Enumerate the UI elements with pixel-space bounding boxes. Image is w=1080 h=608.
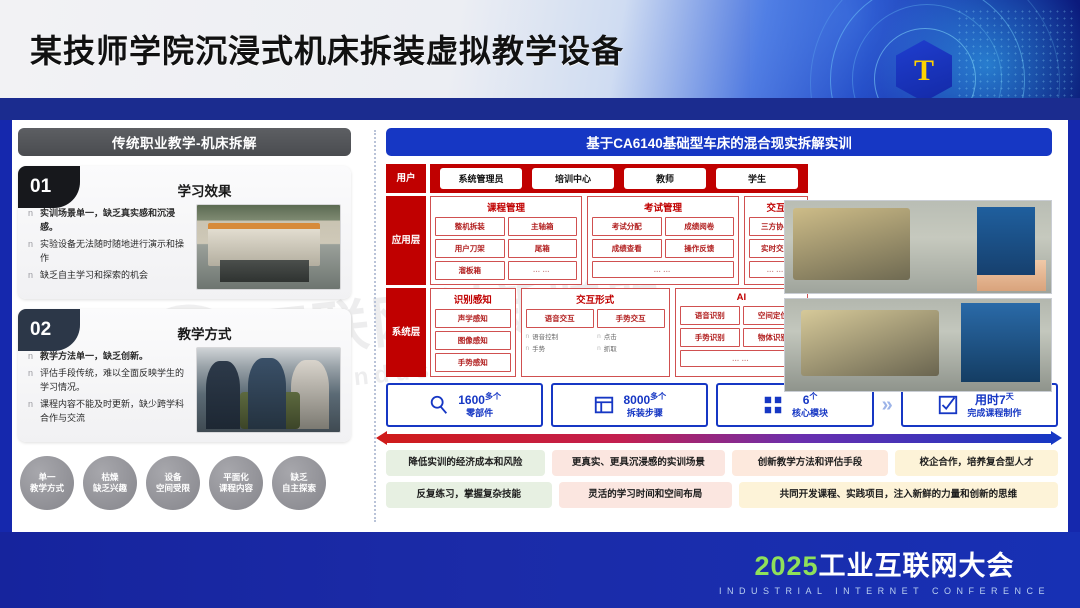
list-item: n 评估手段传统，难以全面反映学生的学习情况。 [28, 366, 188, 394]
pain-point-circle: 缺乏 自主探索 [272, 456, 326, 510]
architecture-diagram: 用户 系统管理员 培训中心 教师 学生 应用层 课程管理 整机拆装 主轴箱 [386, 164, 1052, 377]
chip-item[interactable]: 溜板箱 [435, 261, 505, 280]
user-role-training-center[interactable]: 培训中心 [532, 168, 614, 189]
gradient-arrow-bar [386, 434, 1052, 443]
bullet-marker-icon: n [28, 237, 35, 265]
bullet-text: 教学方法单一，缺乏创新。 [40, 349, 148, 363]
circle-line-1: 缺乏 [290, 472, 307, 483]
subitem-text: 手势 [532, 343, 545, 353]
card-heading: 学习效果 [68, 174, 341, 204]
benefit-item: 共同开发课程、实践项目，注入新鲜的力量和创新的思维 [739, 482, 1058, 508]
card-bullet-list: n 教学方法单一，缺乏创新。 n 评估手段传统，难以全面反映学生的学习情况。 n… [28, 347, 188, 433]
circle-line-1: 单一 [38, 472, 55, 483]
pain-point-circle: 单一 教学方式 [20, 456, 74, 510]
chip-more[interactable]: …… [508, 261, 578, 280]
user-role-admin[interactable]: 系统管理员 [440, 168, 522, 189]
subitem: n点击 [597, 331, 665, 341]
chip-item[interactable]: 主轴箱 [508, 217, 578, 236]
stat-value: 8000 [623, 393, 650, 407]
bullet-marker-icon: n [28, 268, 35, 282]
problem-card-01: 01 学习效果 n 实训场景单一，缺乏真实感和沉浸感。 n 实验设备无法随时随地… [18, 166, 351, 299]
list-item: n 缺乏自主学习和探索的机会 [28, 268, 188, 282]
benefit-item: 降低实训的经济成本和风险 [386, 450, 545, 476]
list-item: n 实验设备无法随时随地进行演示和操作 [28, 237, 188, 265]
group-exam-management: 考试管理 考试分配 成绩阅卷 成绩查看 操作反馈 …… [587, 196, 739, 285]
benefit-item: 反复练习，掌握复杂技能 [386, 482, 552, 508]
subitem: n语音控制 [526, 331, 594, 341]
benefits-row-2: 反复练习，掌握复杂技能 灵活的学习时间和空间布局 共同开发课程、实践项目，注入新… [386, 482, 1058, 508]
list-item: n 教学方法单一，缺乏创新。 [28, 349, 188, 363]
chip-item[interactable]: 考试分配 [592, 217, 662, 236]
right-panel-title: 基于CA6140基础型车床的混合现实拆解实训 [386, 128, 1052, 156]
panel-divider [374, 130, 376, 522]
group-title: 考试管理 [592, 200, 734, 214]
circle-line-1: 设备 [164, 472, 181, 483]
header-divider-bar [0, 98, 1080, 120]
decorative-dot-matrix [956, 8, 1076, 98]
stat-unit: 多个 [650, 392, 666, 401]
group-interaction-form: 交互形式 语音交互 手势交互 n语音控制 n点击 n手势 n抓取 [521, 288, 670, 377]
circle-line-2: 课程内容 [219, 483, 253, 494]
subitem-text: 语音控制 [532, 331, 558, 341]
chip-more[interactable]: …… [592, 261, 734, 278]
user-role-bar: 系统管理员 培训中心 教师 学生 [430, 164, 808, 193]
group-title: 课程管理 [435, 200, 577, 214]
left-panel: 传统职业教学-机床拆解 01 学习效果 n 实训场景单一，缺乏真实感和沉浸感。 … [18, 128, 363, 528]
pain-point-circle: 平面化 课程内容 [209, 456, 263, 510]
subitem: n抓取 [597, 343, 665, 353]
subitem-text: 抓取 [604, 343, 617, 353]
slide-header: T 某技师学院沉浸式机床拆装虚拟教学设备 [0, 0, 1080, 98]
chip-item[interactable]: 图像感知 [435, 331, 511, 350]
subitem-marker-icon: n [526, 345, 530, 352]
bullet-text: 课程内容不能及时更新，缺少跨学科合作与交流 [40, 397, 188, 425]
chip-item[interactable]: 成绩阅卷 [665, 217, 735, 236]
list-icon [593, 394, 615, 416]
bullet-marker-icon: n [28, 366, 35, 394]
subitem-marker-icon: n [526, 333, 530, 340]
card-heading: 教学方式 [68, 317, 341, 347]
stat-unit: 多个 [485, 392, 501, 401]
stat-steps: 8000多个 拆装步骤 [551, 383, 708, 427]
problem-card-02: 02 教学方式 n 教学方法单一，缺乏创新。 n 评估手段传统，难以全面反映学生… [18, 309, 351, 442]
checkbox-icon [937, 394, 959, 416]
workshop-lathe-photo-bottom [784, 298, 1052, 392]
bullet-marker-icon: n [28, 397, 35, 425]
lathe-machine-photo [196, 204, 341, 290]
chip-item[interactable]: 整机拆装 [435, 217, 505, 236]
circle-line-1: 枯燥 [101, 472, 118, 483]
subitem-marker-icon: n [597, 333, 601, 340]
chip-item[interactable]: 手势识别 [680, 328, 740, 347]
bullet-text: 缺乏自主学习和探索的机会 [40, 268, 148, 282]
benefits-section: 降低实训的经济成本和风险 更真实、更具沉浸感的实训场景 创新教学方法和评估手段 … [386, 450, 1058, 508]
chip-item[interactable]: 语音识别 [680, 306, 740, 325]
layer-tag-application: 应用层 [386, 196, 426, 285]
stat-parts: 1600多个 零部件 [386, 383, 543, 427]
chip-item[interactable]: 声学感知 [435, 309, 511, 328]
chip-item[interactable]: 手势感知 [435, 353, 511, 372]
logo-name-en: INDUSTRIAL INTERNET CONFERENCE [719, 586, 1050, 596]
bullet-text: 评估手段传统，难以全面反映学生的学习情况。 [40, 366, 188, 394]
slide-footer: 2025工业互联网大会 INDUSTRIAL INTERNET CONFEREN… [0, 532, 1080, 608]
bullet-marker-icon: n [28, 349, 35, 363]
chip-item[interactable]: 语音交互 [526, 309, 594, 328]
benefits-row-1: 降低实训的经济成本和风险 更真实、更具沉浸感的实训场景 创新教学方法和评估手段 … [386, 450, 1058, 476]
hexagon-badge-letter: T [914, 54, 934, 88]
pain-point-circle: 枯燥 缺乏兴趣 [83, 456, 137, 510]
group-perception: 识别感知 声学感知 图像感知 手势感知 [430, 288, 516, 377]
benefit-item: 更真实、更具沉浸感的实训场景 [552, 450, 725, 476]
grid-icon [762, 394, 784, 416]
subitem: n手势 [526, 343, 594, 353]
conference-logo: 2025工业互联网大会 INDUSTRIAL INTERNET CONFEREN… [719, 544, 1050, 596]
students-disassembly-photo [196, 347, 341, 433]
card-number-badge: 01 [18, 166, 80, 208]
bullet-text: 实验设备无法随时随地进行演示和操作 [40, 237, 188, 265]
pain-point-circles: 单一 教学方式 枯燥 缺乏兴趣 设备 空间受限 平面化 课程内容 缺乏 自主探索 [18, 456, 363, 510]
circle-line-1: 平面化 [223, 472, 249, 483]
stat-value: 1600 [458, 393, 485, 407]
chip-item[interactable]: 用户刀架 [435, 239, 505, 258]
user-role-teacher[interactable]: 教师 [624, 168, 706, 189]
list-item: n 实训场景单一，缺乏真实感和沉浸感。 [28, 206, 188, 234]
circle-line-2: 缺乏兴趣 [93, 483, 127, 494]
group-title: 交互形式 [526, 292, 665, 306]
right-panel: 基于CA6140基础型车床的混合现实拆解实训 用户 系统管理员 培训中心 教师 … [386, 128, 1058, 528]
user-layer-row: 用户 系统管理员 培训中心 教师 学生 [386, 164, 1052, 193]
bullet-marker-icon: n [28, 206, 35, 234]
chip-item[interactable]: 手势交互 [597, 309, 665, 328]
chip-item[interactable]: 操作反馈 [665, 239, 735, 258]
workshop-lathe-photo-top [784, 200, 1052, 294]
magnifier-icon [428, 394, 450, 416]
user-role-student[interactable]: 学生 [716, 168, 798, 189]
group-title: 识别感知 [435, 292, 511, 306]
benefit-item: 灵活的学习时间和空间布局 [559, 482, 732, 508]
pain-point-circle: 设备 空间受限 [146, 456, 200, 510]
subitem-text: 点击 [604, 331, 617, 341]
left-panel-title: 传统职业教学-机床拆解 [18, 128, 351, 156]
circle-line-2: 自主探索 [282, 483, 316, 494]
benefit-item: 创新教学方法和评估手段 [732, 450, 888, 476]
circle-line-2: 空间受限 [156, 483, 190, 494]
logo-year: 2025 [754, 551, 818, 581]
stat-label: 零部件 [458, 407, 501, 420]
page-title: 某技师学院沉浸式机床拆装虚拟教学设备 [30, 26, 624, 72]
stat-label: 拆装步骤 [623, 407, 666, 420]
bullet-text: 实训场景单一，缺乏真实感和沉浸感。 [40, 206, 188, 234]
card-bullet-list: n 实训场景单一，缺乏真实感和沉浸感。 n 实验设备无法随时随地进行演示和操作 … [28, 204, 188, 290]
list-item: n 课程内容不能及时更新，缺少跨学科合作与交流 [28, 397, 188, 425]
layer-tag-system: 系统层 [386, 288, 426, 377]
chip-item[interactable]: 成绩查看 [592, 239, 662, 258]
subitem-marker-icon: n [597, 345, 601, 352]
benefit-item: 校企合作，培养复合型人才 [895, 450, 1058, 476]
card-number-badge: 02 [18, 309, 80, 351]
group-course-management: 课程管理 整机拆装 主轴箱 用户刀架 尾箱 溜板箱 …… [430, 196, 582, 285]
logo-name-cn: 工业互联网大会 [819, 551, 1015, 581]
chip-item[interactable]: 尾箱 [508, 239, 578, 258]
slide-page: T 某技师学院沉浸式机床拆装虚拟教学设备 工业互联网创新联盟 Alliance … [0, 0, 1080, 608]
double-chevron-icon: » [882, 394, 893, 417]
layer-tag-user: 用户 [386, 164, 426, 193]
circle-line-2: 教学方式 [30, 483, 64, 494]
result-label: 完成课程制作 [967, 407, 1021, 420]
stat-label: 核心模块 [792, 407, 828, 420]
workshop-photo-group [784, 200, 1052, 396]
